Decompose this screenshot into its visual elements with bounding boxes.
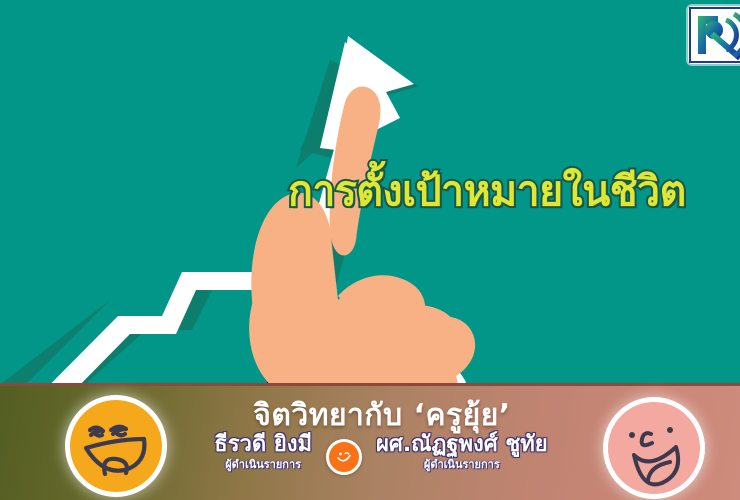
smiling-face-icon [608,402,700,494]
host-name: ธีรวดี ยิงมี [214,434,312,456]
host-role: ผู้ดำเนินรายการ [424,459,500,470]
laughing-face-icon [70,400,162,492]
winking-smiley-icon [326,439,362,475]
host-role: ผู้ดำเนินรายการ [225,459,301,470]
radio-broadcast-logo [688,6,740,64]
host-name: ผศ.ณัฏฐพงศ์ ชูทัย [376,434,548,456]
host-2: ผศ.ณัฏฐพงศ์ ชูทัย ผู้ดำเนินรายการ [376,434,548,470]
page-title: การตั้งเป้าหมายในชีวิต [288,171,686,212]
poster-canvas: การตั้งเป้าหมายในชีวิต จิตวิทยากับ ‘ครูย… [0,0,740,500]
host-1: ธีรวดี ยิงมี ผู้ดำเนินรายการ [214,434,312,470]
main-title-block: การตั้งเป้าหมายในชีวิต [288,162,708,220]
logo-icon [688,6,740,64]
